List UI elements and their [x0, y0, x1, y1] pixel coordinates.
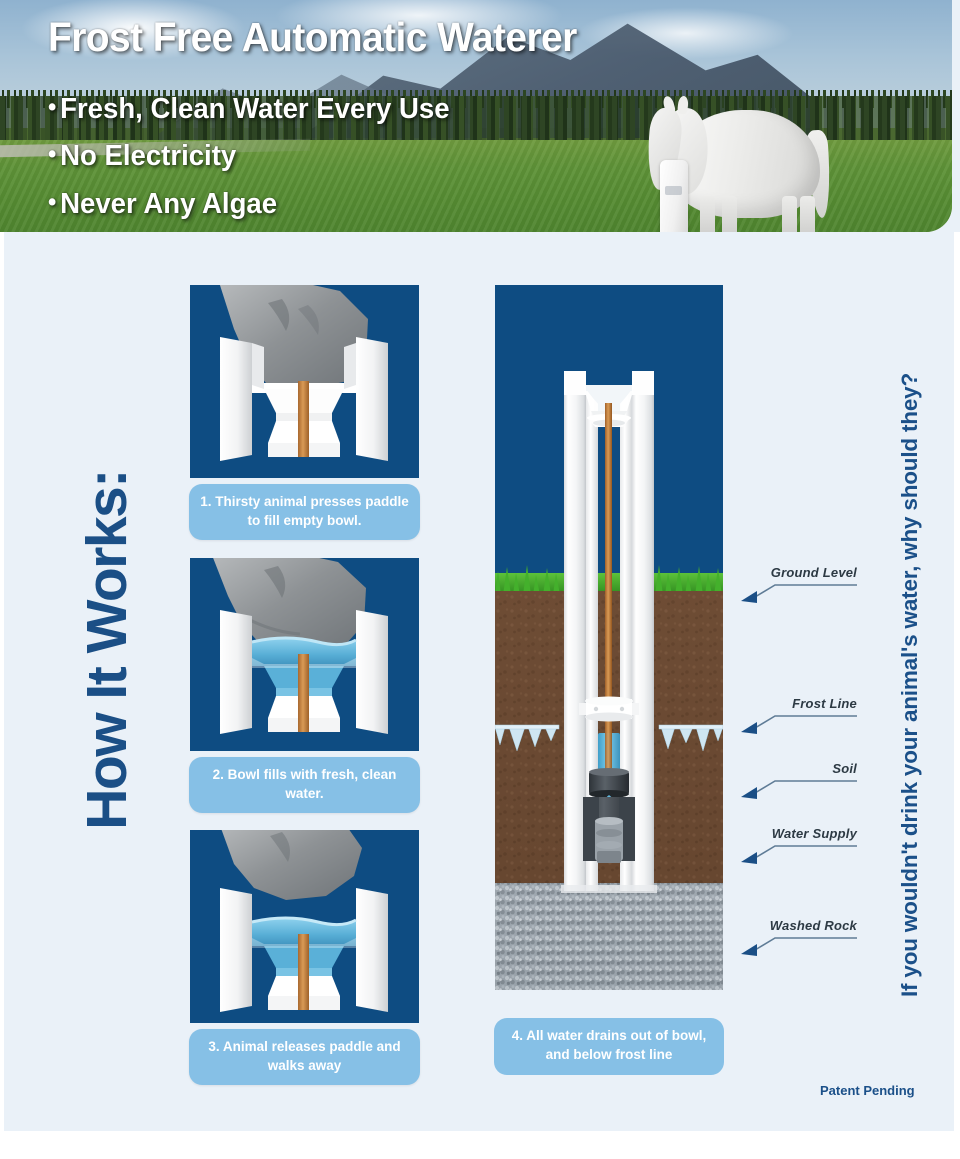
step-3-illustration	[190, 830, 419, 1023]
waterer-empty-bowl-icon	[190, 285, 419, 478]
step-1-caption: 1. Thirsty animal presses paddle to fill…	[189, 484, 420, 540]
bullet-dot-icon: •	[48, 140, 56, 168]
callout-leader-line	[735, 761, 857, 801]
riser-outer-right	[632, 371, 654, 891]
callout-soil: Soil	[735, 761, 857, 801]
step-4-caption: 4. All water drains out of bowl, and bel…	[494, 1018, 724, 1075]
callout-ground-level: Ground Level	[735, 565, 857, 605]
copper-actuator-rod	[605, 403, 612, 733]
callout-water-supply: Water Supply	[735, 826, 857, 866]
step-2-illustration	[190, 558, 419, 751]
step-1-illustration	[190, 285, 419, 478]
step-2-caption: 2. Bowl fills with fresh, clean water.	[189, 757, 420, 813]
callout-frost-line: Frost Line	[735, 696, 857, 736]
underground-cutaway-icon	[495, 285, 723, 990]
banner-text-block: Frost Free Automatic Waterer •Fresh, Cle…	[0, 0, 952, 232]
banner-bullet-2: •No Electricity	[48, 140, 236, 173]
patent-pending-text: Patent Pending	[820, 1083, 915, 1098]
banner-bullet-3-text: Never Any Algae	[60, 188, 277, 220]
banner-bullet-1: •Fresh, Clean Water Every Use	[48, 93, 450, 126]
callout-leader-line	[735, 696, 857, 736]
header-banner: Frost Free Automatic Waterer •Fresh, Cle…	[0, 0, 952, 232]
step-4-cross-section-illustration	[495, 285, 723, 990]
how-it-works-heading: How It Works:	[74, 470, 140, 829]
page-edge-right	[954, 232, 960, 1159]
waterer-filling-bowl-icon	[190, 558, 419, 751]
bullet-dot-icon: •	[48, 188, 56, 216]
step-3-caption: 3. Animal releases paddle and walks away	[189, 1029, 420, 1085]
callout-washed-rock: Washed Rock	[735, 918, 857, 958]
waterer-full-bowl-icon	[190, 830, 419, 1023]
callout-leader-line	[735, 918, 857, 958]
banner-bullet-1-text: Fresh, Clean Water Every Use	[60, 93, 449, 125]
banner-bullet-3: •Never Any Algae	[48, 188, 277, 221]
riser-outer-left	[564, 371, 586, 891]
tagline-wrap: If you wouldn't drink your animal's wate…	[884, 290, 936, 1080]
infographic-page: Frost Free Automatic Waterer •Fresh, Cle…	[0, 0, 960, 1159]
banner-bullet-2-text: No Electricity	[60, 140, 236, 172]
callout-leader-line	[735, 826, 857, 866]
callout-leader-line	[735, 565, 857, 605]
tagline-text: If you wouldn't drink your animal's wate…	[897, 373, 923, 997]
banner-title: Frost Free Automatic Waterer	[48, 14, 577, 61]
page-edge-left	[0, 232, 4, 1159]
bullet-dot-icon: •	[48, 93, 56, 121]
how-it-works-heading-wrap: How It Works:	[62, 340, 152, 960]
page-bottom-strip	[0, 1131, 960, 1159]
